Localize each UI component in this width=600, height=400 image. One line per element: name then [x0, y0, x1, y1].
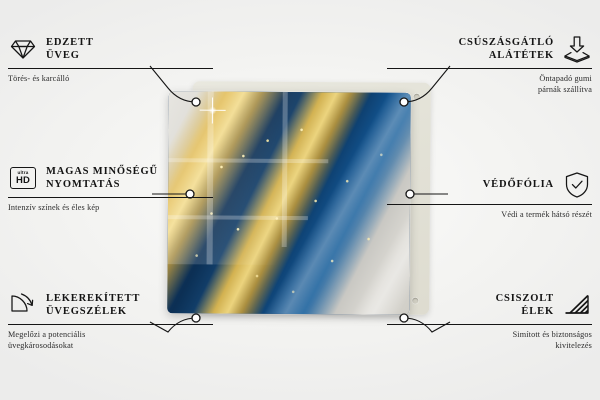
feature-divider [387, 204, 592, 205]
feature-polished-edges: CSISZOLTÉLEK Simított és biztonságoskivi… [387, 290, 592, 351]
feature-title: VÉDŐFÓLIA [483, 178, 554, 192]
infographic-canvas: EDZETTÜVEG Törés- és karcálló ultra HD M… [0, 0, 600, 400]
feature-header: CSÚSZÁSGÁTLÓALÁTÉTEK [387, 34, 592, 64]
feature-divider [8, 324, 213, 325]
feature-tempered-glass: EDZETTÜVEG Törés- és karcálló [8, 34, 213, 84]
feature-subtitle: Intenzív színek és éles kép [8, 202, 213, 213]
feature-subtitle: Törés- és karcálló [8, 73, 213, 84]
feature-title: LEKEREKÍTETTÜVEGSZÉLEK [46, 292, 140, 319]
ultra-hd-badge-icon: ultra HD [8, 163, 38, 193]
feature-rounded-edges: LEKEREKÍTETTÜVEGSZÉLEK Megelőzi a potenc… [8, 290, 213, 351]
feature-subtitle: Öntapadó gumipárnák szállítva [387, 73, 592, 95]
feature-header: ultra HD MAGAS MINŐSÉGŰNYOMTATÁS [8, 163, 213, 193]
hatched-edge-icon [562, 290, 592, 320]
feature-high-quality-print: ultra HD MAGAS MINŐSÉGŰNYOMTATÁS Intenzí… [8, 163, 213, 213]
feature-subtitle: Védi a termék hátsó részét [387, 209, 592, 220]
hd-badge-main-label: HD [16, 176, 30, 186]
feature-title: MAGAS MINŐSÉGŰNYOMTATÁS [46, 165, 158, 192]
feature-header: LEKEREKÍTETTÜVEGSZÉLEK [8, 290, 213, 320]
feature-divider [387, 324, 592, 325]
feature-protective-film: VÉDŐFÓLIA Védi a termék hátsó részét [387, 170, 592, 220]
feature-divider [8, 197, 213, 198]
arrow-down-pad-icon [562, 34, 592, 64]
feature-header: VÉDŐFÓLIA [387, 170, 592, 200]
shield-check-icon [562, 170, 592, 200]
feature-header: EDZETTÜVEG [8, 34, 213, 64]
diamond-icon [8, 34, 38, 64]
feature-title: CSISZOLTÉLEK [496, 292, 554, 319]
feature-header: CSISZOLTÉLEK [387, 290, 592, 320]
feature-divider [8, 68, 213, 69]
feature-title: CSÚSZÁSGÁTLÓALÁTÉTEK [459, 36, 554, 63]
rounded-corner-icon [8, 290, 38, 320]
feature-title: EDZETTÜVEG [46, 36, 94, 63]
feature-divider [387, 68, 592, 69]
feature-subtitle: Megelőzi a potenciálisüvegkárosodásokat [8, 329, 213, 351]
feature-subtitle: Simított és biztonságoskivitelezés [387, 329, 592, 351]
feature-anti-slip-pads: CSÚSZÁSGÁTLÓALÁTÉTEK Öntapadó gumipárnák… [387, 34, 592, 95]
